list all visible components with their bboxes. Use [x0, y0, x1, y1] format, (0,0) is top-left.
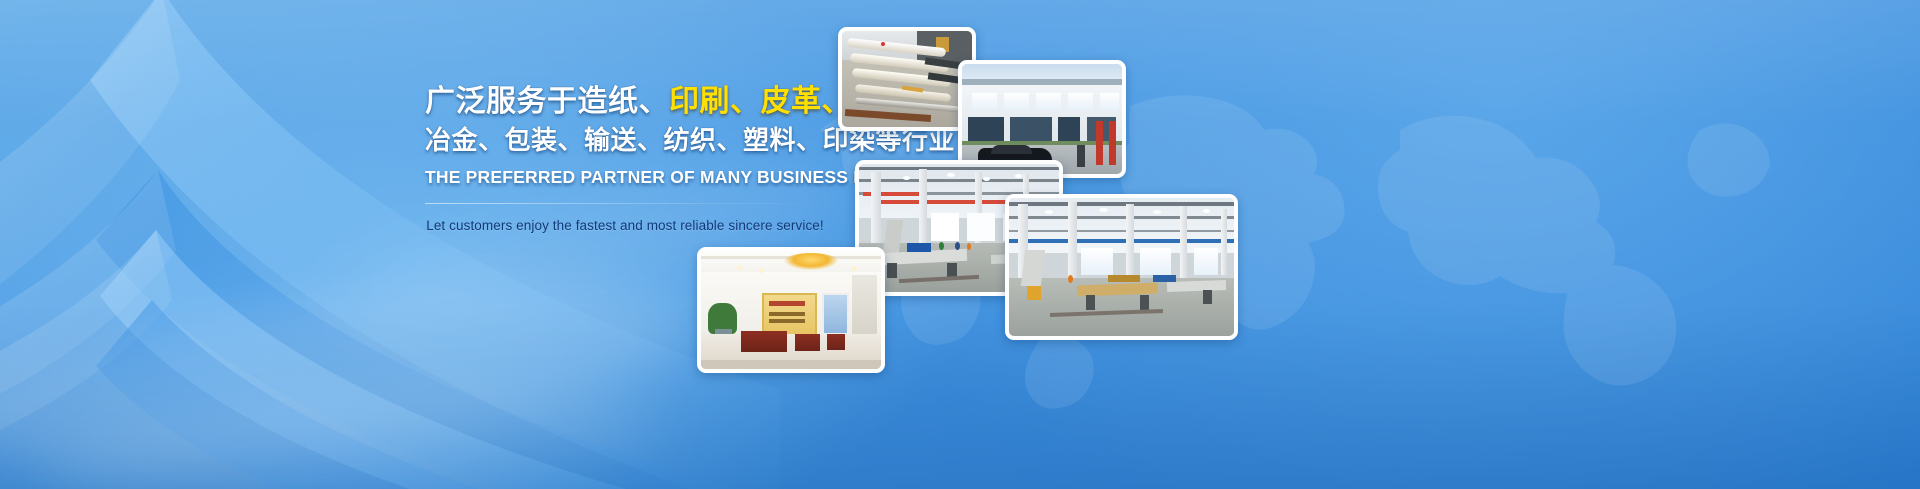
headline-line-1-white: 广泛服务于造纸、 [425, 85, 669, 118]
photo-scene [701, 251, 881, 369]
headline-line-2: 冶金、包装、输送、纺织、塑料、印染等行业 [425, 125, 825, 157]
promo-banner: 广泛服务于造纸、印刷、皮革、压延、 冶金、包装、输送、纺织、塑料、印染等行业 T… [0, 0, 1920, 489]
divider [425, 203, 825, 204]
subtitle: Let customers enjoy the fastest and most… [425, 218, 825, 233]
photo-scene [962, 64, 1122, 174]
photo-warehouse-interior[interactable] [1005, 194, 1238, 340]
photo-paper-mill-rollers[interactable] [838, 27, 976, 131]
photo-scene [842, 31, 972, 127]
photo-office-lobby[interactable] [697, 247, 885, 373]
headline-block: 广泛服务于造纸、印刷、皮革、压延、 冶金、包装、输送、纺织、塑料、印染等行业 T… [425, 84, 825, 233]
tagline: THE PREFERRED PARTNER OF MANY BUSINESS E… [425, 167, 825, 188]
headline-line-1: 广泛服务于造纸、印刷、皮革、压延、 [425, 84, 825, 121]
photo-scene [1009, 198, 1234, 336]
